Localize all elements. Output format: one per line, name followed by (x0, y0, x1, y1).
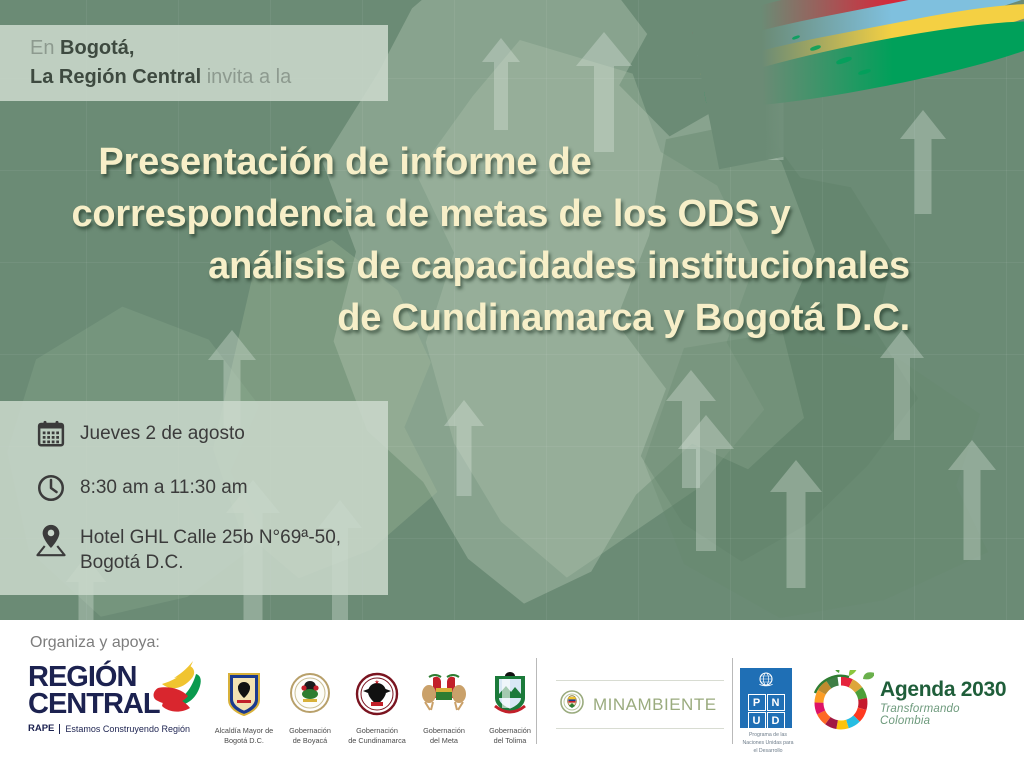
event-poster: En Bogotá, La Región Central invita a la… (0, 0, 1024, 767)
minambiente-wordmark: MINAMBIENTE (593, 695, 717, 715)
up-arrow-icon (482, 38, 520, 130)
coat-caption-line-1: Alcaldía Mayor de (212, 726, 276, 736)
coat-caption-line-1: Gobernación (478, 726, 542, 736)
minambiente-row: MINAMBIENTE (556, 681, 724, 728)
region-central-flame-icon (146, 658, 208, 720)
coat-of-arms-boyaca: Gobernación de Boyacá (278, 672, 342, 746)
agenda-subtitle: Transformando Colombia (880, 703, 1008, 727)
pnud-letter-u: U (748, 712, 766, 729)
agenda-2030-logo: Agenda 2030 Transformando Colombia (808, 670, 1008, 740)
pnud-letter-p: P (748, 694, 766, 711)
rape-slogan: Estamos Construyendo Región (65, 724, 190, 734)
pnud-caption: Programa de las Naciones Unidas para el … (740, 732, 796, 755)
up-arrow-icon (880, 330, 924, 440)
coat-caption-line-2: del Meta (412, 736, 476, 746)
colombia-emblem-icon (560, 690, 584, 719)
event-details-panel: Jueves 2 de agosto 8:30 am a 11:30 am (0, 401, 388, 595)
region-central-tagline: RAPE Estamos Construyendo Región (28, 723, 208, 734)
coat-of-arms-tolima: Gobernación del Tolima (478, 672, 542, 746)
coat-of-arms-bogota: Alcaldía Mayor de Bogotá D.C. (212, 672, 276, 746)
minambiente-logo: MINAMBIENTE (556, 680, 724, 729)
coat-caption: Alcaldía Mayor de Bogotá D.C. (212, 726, 276, 746)
up-arrow-icon (948, 440, 996, 560)
minambiente-rule-bottom (556, 728, 724, 729)
invite-banner: En Bogotá, La Región Central invita a la (0, 25, 388, 101)
event-date-text: Jueves 2 de agosto (72, 419, 245, 446)
title-line-4: de Cundinamarca y Bogotá D.C. (30, 292, 910, 344)
coat-caption: Gobernación del Meta (412, 726, 476, 746)
coat-caption-line-2: de Boyacá (278, 736, 342, 746)
coat-caption: Gobernación de Boyacá (278, 726, 342, 746)
un-emblem-icon (757, 671, 775, 692)
footer-divider-right (732, 658, 733, 744)
invite-suffix: invita a la (201, 66, 291, 88)
event-date-row: Jueves 2 de agosto (30, 419, 245, 449)
agenda-text: Agenda 2030 Transformando Colombia (880, 678, 1008, 727)
calendar-icon (30, 419, 72, 449)
svg-text:★: ★ (374, 679, 379, 686)
coat-caption-line-2: del Tolima (478, 736, 542, 746)
event-time-text: 8:30 am a 11:30 am (72, 473, 248, 500)
coat-caption: Gobernación del Tolima (478, 726, 542, 746)
event-venue-row: Hotel GHL Calle 25b N°69ª-50, Bogotá D.C… (30, 523, 341, 575)
location-pin-icon (30, 523, 72, 557)
event-time-row: 8:30 am a 11:30 am (30, 473, 248, 503)
invite-prefix: En (30, 37, 60, 59)
sponsors-footer: Organiza y apoya: REGIÓN CENTRAL RAPE Es… (0, 620, 1024, 767)
coat-caption-line-2: Bogotá D.C. (212, 736, 276, 746)
up-arrow-icon (444, 400, 484, 496)
up-arrow-icon (678, 415, 734, 551)
page-title: Presentación de informe de correspondenc… (30, 136, 910, 344)
invite-line-1: En Bogotá, (30, 34, 388, 63)
coat-of-arms-meta: Gobernación del Meta (412, 672, 476, 746)
event-venue-text: Hotel GHL Calle 25b N°69ª-50, Bogotá D.C… (72, 523, 341, 575)
clock-icon (30, 473, 72, 503)
region-central-logo: REGIÓN CENTRAL RAPE Estamos Construyendo… (28, 664, 208, 744)
pnud-letter-d: D (767, 712, 785, 729)
invite-city: Bogotá, (60, 37, 134, 59)
invite-line-2: La Región Central invita a la (30, 63, 388, 92)
title-line-2: correspondencia de metas de los ODS y (30, 188, 910, 240)
coat-caption: Gobernación de Cundinamarca (345, 726, 409, 746)
coat-caption-line-1: Gobernación (278, 726, 342, 736)
pnud-box: P N U D (740, 668, 792, 728)
title-line-3: análisis de capacidades institucionales (30, 240, 910, 292)
event-venue-line-2: Bogotá D.C. (80, 550, 341, 575)
title-line-1: Presentación de informe de (30, 136, 910, 188)
up-arrow-icon (770, 460, 822, 588)
invite-organization: La Región Central (30, 66, 201, 88)
coat-of-arms-cundinamarca: ★ Gobernación de Cundinamarca (345, 672, 409, 746)
coat-caption-line-1: Gobernación (345, 726, 409, 736)
organiza-label: Organiza y apoya: (30, 634, 160, 652)
agenda-title: Agenda 2030 (880, 678, 1008, 702)
event-venue-line-1: Hotel GHL Calle 25b N°69ª-50, (80, 525, 341, 550)
up-arrow-icon (576, 32, 632, 152)
pnud-letter-n: N (767, 694, 785, 711)
pnud-logo: P N U D Programa de las Naciones Unidas … (740, 668, 796, 755)
sdg-color-wheel-icon (808, 723, 874, 740)
coat-caption-line-2: de Cundinamarca (345, 736, 409, 746)
pnud-letters: P N U D (748, 694, 785, 729)
footer-divider-left (536, 658, 537, 744)
tagline-divider (59, 724, 60, 734)
rape-acronym: RAPE (28, 723, 54, 734)
coat-caption-line-1: Gobernación (412, 726, 476, 736)
